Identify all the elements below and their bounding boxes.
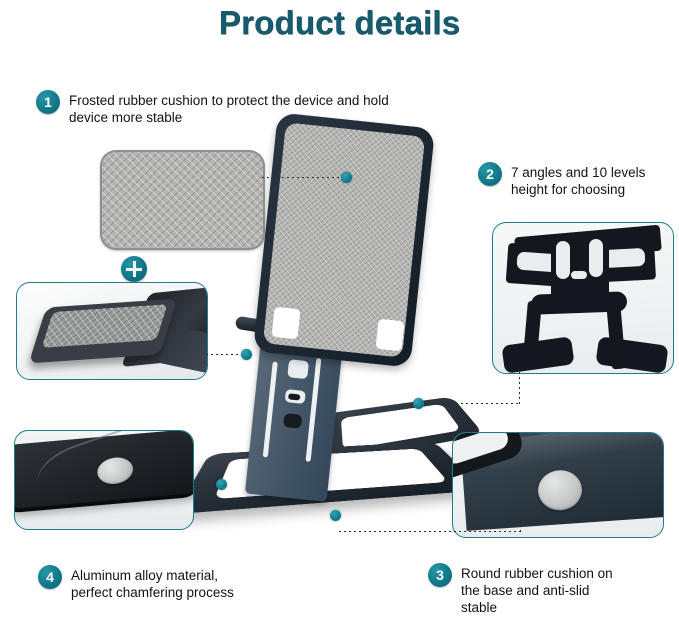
callout-badge-2: 2	[478, 162, 502, 186]
hinge-base-right	[595, 336, 668, 373]
marker-dot-hinge	[413, 398, 424, 409]
stand-support-arm	[245, 334, 343, 502]
arm-adjust-hole-dark	[283, 413, 302, 429]
marker-dot-base-front	[330, 510, 341, 521]
leader-line-2	[421, 403, 520, 404]
callout-badge-1: 1	[36, 90, 60, 114]
callout-2: 2 7 angles and 10 levels height for choo…	[478, 162, 673, 198]
callout-1: 1 Frosted rubber cushion to protect the …	[36, 90, 436, 126]
leader-line-3	[339, 531, 521, 532]
callout-badge-3: 3	[428, 563, 452, 587]
inset-base-corner-right	[452, 432, 664, 538]
leader-line-2-vertical	[519, 372, 520, 404]
leader-line-1b	[206, 354, 246, 355]
callout-badge-4: 4	[38, 565, 62, 589]
product-details-infographic: Product details	[0, 0, 679, 626]
callout-text-1: Frosted rubber cushion to protect the de…	[69, 90, 389, 126]
marker-dot-base-left	[216, 479, 227, 490]
plus-icon	[121, 256, 147, 282]
marker-dot-holder-base	[241, 349, 252, 360]
hinge-center-slot	[556, 241, 570, 279]
page-title: Product details	[0, 4, 679, 42]
round-rubber-foot	[537, 469, 584, 512]
marker-dot-cushion	[341, 172, 352, 183]
leader-line-3-vertical	[520, 510, 521, 532]
holder-notch-left	[272, 307, 301, 340]
hinge-notch	[571, 271, 587, 279]
inset-frosted-pad-3d	[16, 282, 208, 380]
holder-notch-right	[376, 319, 405, 352]
callout-4: 4 Aluminum alloy material, perfect chamf…	[38, 565, 288, 601]
inset-base-corner-left	[14, 430, 194, 530]
hinge-center-slot	[589, 239, 603, 277]
arm-adjust-hole-dark	[288, 393, 301, 400]
callout-text-4: Aluminum alloy material, perfect chamfer…	[71, 565, 234, 601]
callout-text-2: 7 angles and 10 levels height for choosi…	[511, 162, 645, 198]
callout-text-3: Round rubber cushion on the base and ant…	[461, 563, 613, 616]
pad-textured-surface	[42, 304, 168, 348]
leader-line-1	[262, 177, 340, 178]
hinge-base-left	[501, 336, 574, 373]
pad-body	[29, 299, 178, 364]
arm-adjust-hole	[287, 359, 309, 379]
arm-slot	[306, 358, 322, 462]
callout-3: 3 Round rubber cushion on the base and a…	[428, 563, 643, 616]
inset-frosted-pad-flat	[100, 150, 265, 250]
inset-hinge-mechanism	[492, 222, 674, 374]
arm-slot	[263, 361, 278, 457]
